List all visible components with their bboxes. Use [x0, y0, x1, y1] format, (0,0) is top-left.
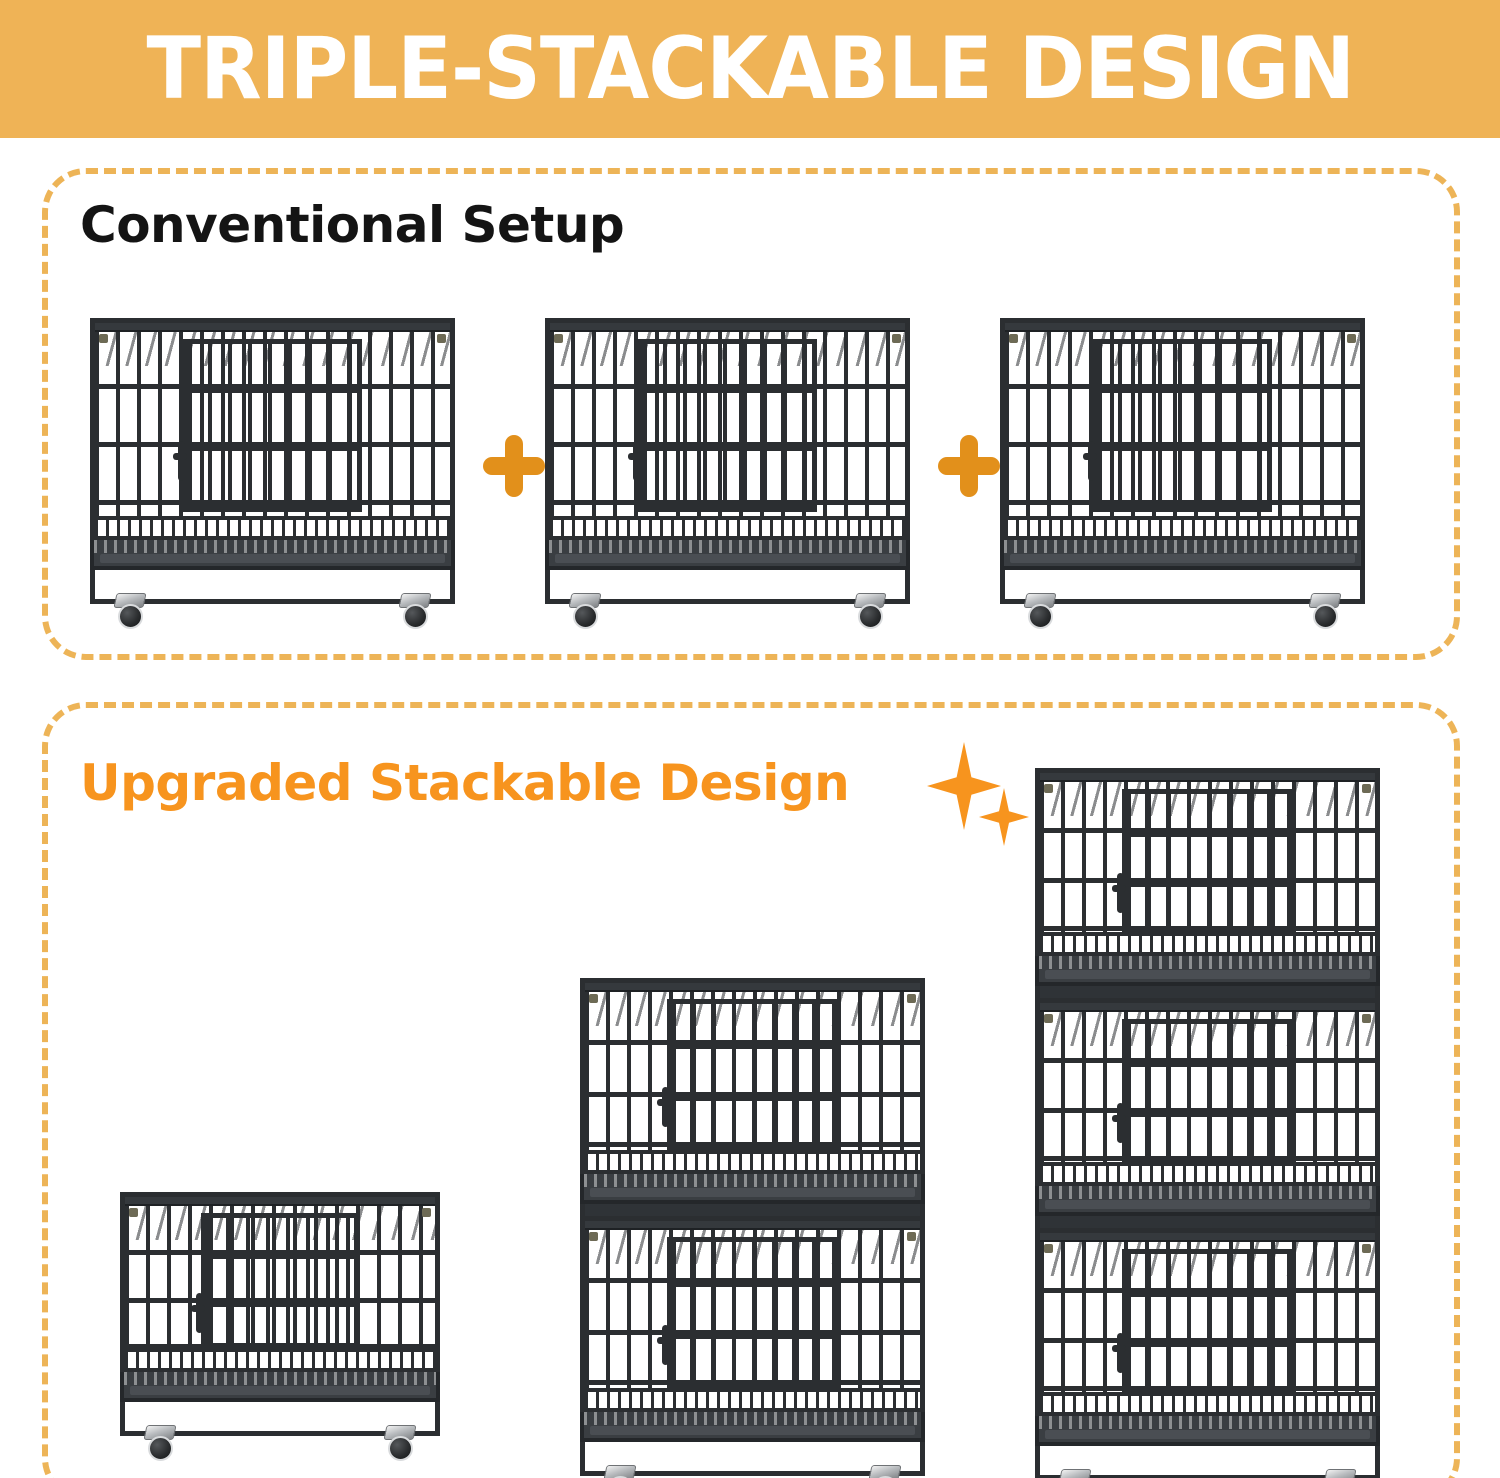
- caster-wheel-icon: [383, 1425, 417, 1463]
- crate-body-level-2: [1035, 998, 1380, 1186]
- wheeled-base-frame: [545, 570, 910, 604]
- top-rail: [584, 1221, 921, 1230]
- corner-lug: [422, 1208, 431, 1217]
- corner-lug: [99, 334, 108, 343]
- wire-grid-floor: [1005, 516, 1360, 536]
- top-rail: [124, 1197, 436, 1206]
- wheeled-base-frame: [90, 570, 455, 604]
- caster-wheel-icon: [853, 593, 887, 631]
- slide-out-tray[interactable]: [580, 1412, 925, 1442]
- slide-out-tray[interactable]: [1000, 540, 1365, 570]
- slide-out-tray[interactable]: [545, 540, 910, 570]
- door-latch-icon[interactable]: [633, 441, 640, 481]
- corner-lug: [589, 1232, 598, 1241]
- corner-lug: [437, 334, 446, 343]
- wire-grid-floor: [550, 516, 905, 536]
- crate-stack-three: [1035, 768, 1380, 1478]
- crate-body-level-1: [1035, 1228, 1380, 1416]
- slide-out-tray[interactable]: [1035, 1186, 1380, 1216]
- crate-body-level-1: [580, 1216, 925, 1412]
- crate-door[interactable]: [1122, 1249, 1293, 1394]
- slide-out-tray[interactable]: [1035, 956, 1380, 986]
- caster-wheel-icon: [603, 1465, 637, 1478]
- crate-door[interactable]: [638, 339, 817, 512]
- sparkle-group: [925, 742, 1045, 847]
- corner-lug: [907, 994, 916, 1003]
- corner-lug: [1362, 784, 1371, 793]
- door-latch-icon[interactable]: [196, 1293, 203, 1333]
- crate-body-level-1: [120, 1192, 440, 1372]
- top-rail: [1039, 1233, 1376, 1242]
- caster-wheel-icon: [1323, 1469, 1357, 1478]
- slide-out-tray[interactable]: [90, 540, 455, 570]
- wheeled-base-frame: [1000, 570, 1365, 604]
- corner-lug: [1362, 1244, 1371, 1253]
- wire-grid-floor: [585, 1388, 920, 1408]
- page-title: TRIPLE-STACKABLE DESIGN: [146, 26, 1354, 112]
- crate-body: [90, 318, 455, 540]
- door-latch-icon[interactable]: [1088, 441, 1095, 481]
- corner-lug: [1347, 334, 1356, 343]
- wire-grid-floor: [95, 516, 450, 536]
- caster-wheel-icon: [568, 593, 602, 631]
- caster-wheel-icon: [868, 1465, 902, 1478]
- crate-stack-two: [580, 978, 925, 1476]
- plus-separator-icon: [938, 435, 1000, 497]
- heading-conventional-setup: Conventional Setup: [80, 200, 624, 250]
- crate-door[interactable]: [1122, 1019, 1293, 1164]
- slide-out-tray[interactable]: [580, 1174, 925, 1204]
- crate-door[interactable]: [1093, 339, 1272, 512]
- slide-out-tray[interactable]: [1035, 1416, 1380, 1446]
- wheeled-base-frame: [1035, 1446, 1380, 1478]
- crate-stack-one: [120, 1192, 440, 1436]
- top-rail: [584, 983, 921, 992]
- crate-single-b: [545, 318, 910, 604]
- crate-single-c: [1000, 318, 1365, 604]
- crate-body-level-2: [580, 978, 925, 1174]
- wire-grid-floor: [1040, 1392, 1375, 1412]
- top-rail: [549, 323, 906, 332]
- corner-lug: [554, 334, 563, 343]
- slide-out-tray[interactable]: [120, 1372, 440, 1402]
- plus-separator-icon: [483, 435, 545, 497]
- crate-door[interactable]: [183, 339, 362, 512]
- door-latch-icon[interactable]: [178, 441, 185, 481]
- stack-connector: [1035, 1216, 1380, 1228]
- crate-body: [545, 318, 910, 540]
- corner-lug: [1044, 1244, 1053, 1253]
- caster-wheel-icon: [143, 1425, 177, 1463]
- heading-upgraded-stackable: Upgraded Stackable Design: [80, 758, 849, 808]
- door-latch-icon[interactable]: [1117, 1103, 1124, 1143]
- corner-lug: [129, 1208, 138, 1217]
- wire-grid-floor: [585, 1150, 920, 1170]
- door-latch-icon[interactable]: [1117, 1333, 1124, 1373]
- corner-lug: [1044, 1014, 1053, 1023]
- wire-grid-floor: [125, 1348, 435, 1368]
- corner-lug: [1044, 784, 1053, 793]
- top-rail: [1004, 323, 1361, 332]
- top-rail: [94, 323, 451, 332]
- stack-connector: [580, 1204, 925, 1216]
- door-latch-icon[interactable]: [1117, 873, 1124, 913]
- top-rail: [1039, 1003, 1376, 1012]
- corner-lug: [907, 1232, 916, 1241]
- wire-grid-floor: [1040, 1162, 1375, 1182]
- door-latch-icon[interactable]: [662, 1325, 669, 1365]
- wheeled-base-frame: [120, 1402, 440, 1436]
- corner-lug: [589, 994, 598, 1003]
- crate-door[interactable]: [201, 1213, 359, 1348]
- crate-single-a: [90, 318, 455, 604]
- caster-wheel-icon: [113, 593, 147, 631]
- stack-connector: [1035, 986, 1380, 998]
- crate-body-level-3: [1035, 768, 1380, 956]
- crate-door[interactable]: [667, 1237, 838, 1390]
- corner-lug: [892, 334, 901, 343]
- infographic-page: TRIPLE-STACKABLE DESIGN Conventional Set…: [0, 0, 1500, 1478]
- wire-grid-floor: [1040, 932, 1375, 952]
- crate-door[interactable]: [1122, 789, 1293, 934]
- caster-wheel-icon: [398, 593, 432, 631]
- corner-lug: [1009, 334, 1018, 343]
- wheeled-base-frame: [580, 1442, 925, 1476]
- corner-lug: [1362, 1014, 1371, 1023]
- sparkle-small-icon: [979, 788, 1029, 846]
- caster-wheel-icon: [1058, 1469, 1092, 1478]
- crate-body: [1000, 318, 1365, 540]
- door-latch-icon[interactable]: [662, 1087, 669, 1127]
- crate-door[interactable]: [667, 999, 838, 1152]
- caster-wheel-icon: [1308, 593, 1342, 631]
- top-rail: [1039, 773, 1376, 782]
- header-banner: TRIPLE-STACKABLE DESIGN: [0, 0, 1500, 138]
- caster-wheel-icon: [1023, 593, 1057, 631]
